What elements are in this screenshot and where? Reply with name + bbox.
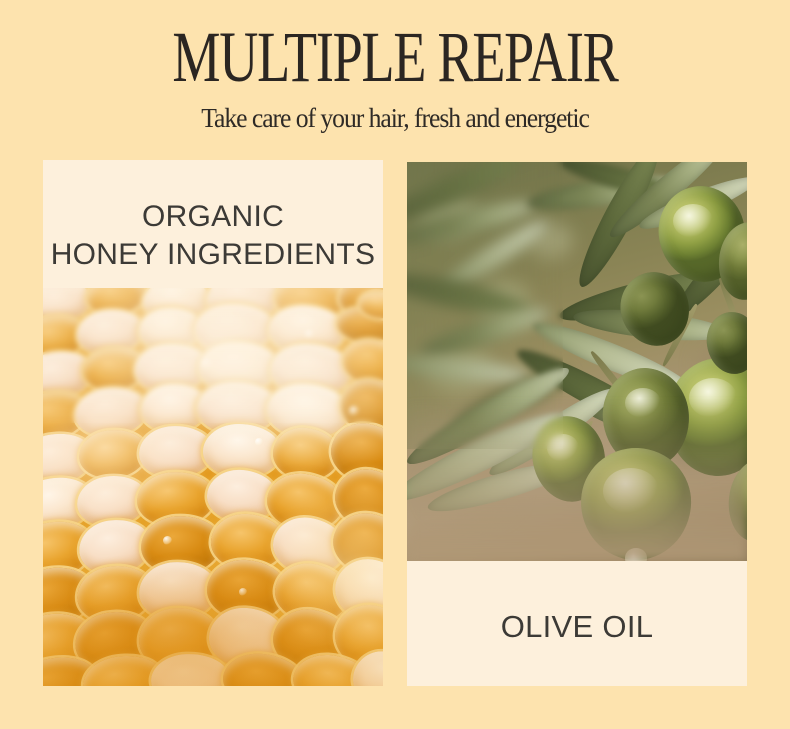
honeycomb-photo	[43, 288, 383, 686]
olive-branch-photo	[407, 162, 747, 561]
olive-specular-highlight	[673, 204, 713, 238]
olive-bottom-blur-overlay	[407, 401, 747, 561]
olive-card-caption: OLIVE OIL	[407, 608, 747, 646]
honey-card-caption: ORGANIC HONEY INGREDIENTS	[43, 198, 383, 274]
page-subtitle: Take care of your hair, fresh and energe…	[20, 103, 771, 133]
honey-bottom-shading	[43, 567, 383, 686]
honey-top-softening	[43, 288, 383, 423]
header-banner: MULTIPLE REPAIR Take care of your hair, …	[0, 0, 790, 160]
page-title: MULTIPLE REPAIR	[71, 22, 719, 94]
